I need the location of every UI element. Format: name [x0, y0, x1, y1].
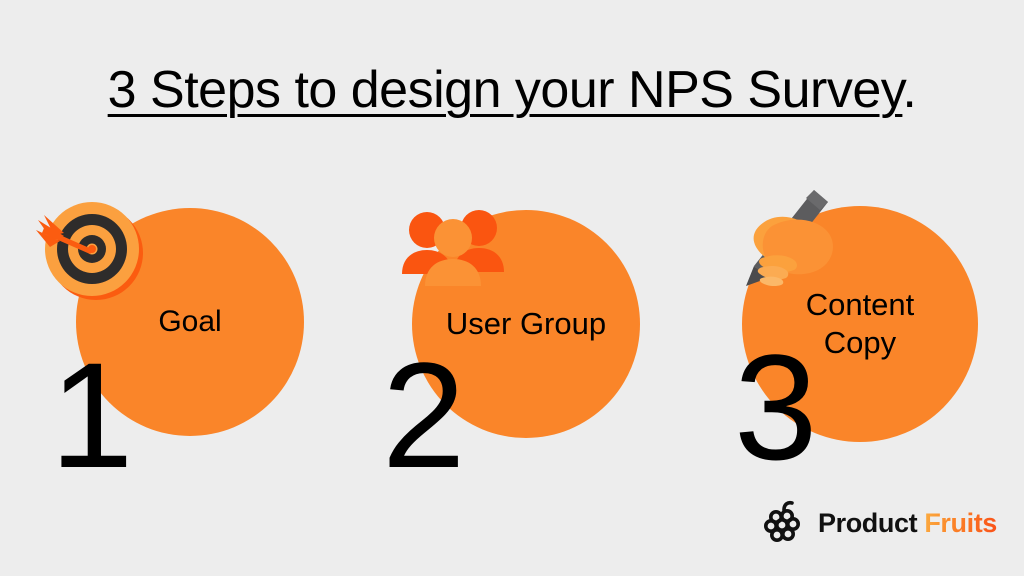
step-3-number: 3	[734, 332, 817, 482]
steps-container: Goal 1	[0, 0, 1024, 576]
step-2: User Group 2	[350, 196, 690, 496]
step-1-number: 1	[50, 340, 133, 490]
user-group-icon	[400, 206, 520, 292]
logo-word-fruits: Fruits	[924, 508, 997, 538]
writing-hand-icon	[736, 186, 856, 296]
slide-canvas: 3 Steps to design your NPS Survey. Goal …	[0, 0, 1024, 576]
grapes-icon	[762, 500, 806, 546]
step-3: Content Copy 3	[694, 186, 1024, 486]
target-dartboard-icon	[34, 196, 154, 306]
logo-wordmark: Product Fruits	[818, 508, 997, 538]
step-2-number: 2	[382, 340, 465, 490]
step-1: Goal 1	[8, 196, 348, 496]
product-fruits-logo: Product Fruits	[762, 498, 997, 548]
logo-word-product: Product	[818, 508, 917, 538]
